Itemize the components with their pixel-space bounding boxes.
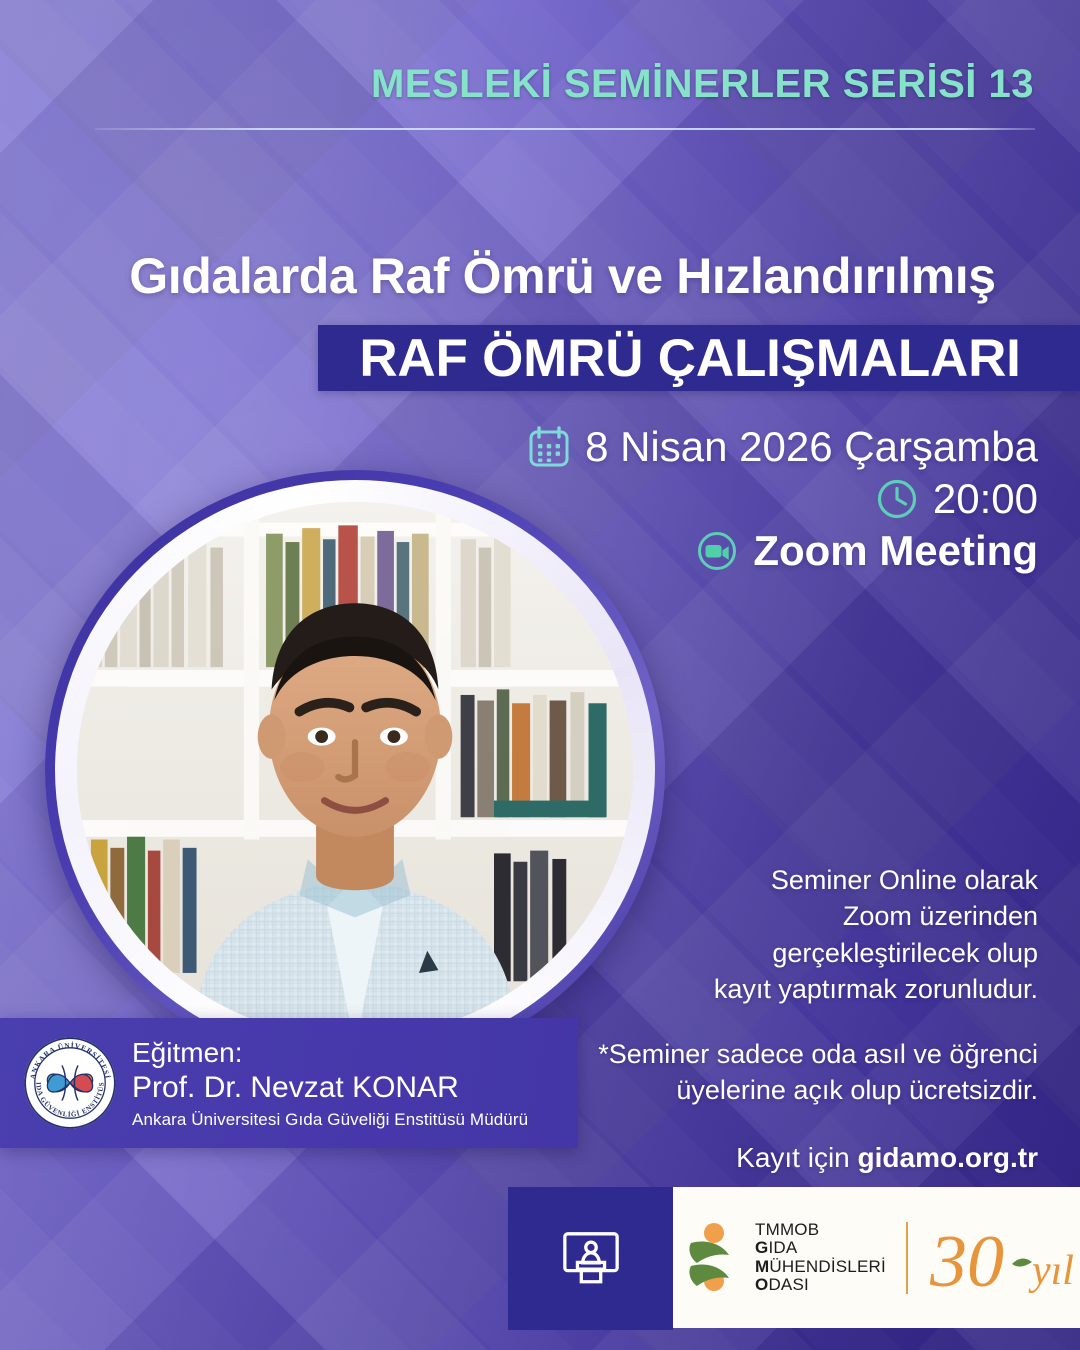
info-note-line1: Seminer Online olarak bbox=[568, 862, 1038, 898]
event-time-text: 20:00 bbox=[933, 476, 1038, 522]
speaker-details: Eğitmen: Prof. Dr. Nevzat KONAR Ankara Ü… bbox=[132, 1036, 528, 1130]
event-platform-text: Zoom Meeting bbox=[753, 528, 1038, 574]
event-date-text: 8 Nisan 2026 Çarşamba bbox=[585, 424, 1038, 470]
footer-icon-box bbox=[508, 1187, 673, 1330]
calendar-icon bbox=[527, 425, 571, 469]
tmmob-line-2: GIDA bbox=[755, 1239, 886, 1257]
header-divider bbox=[95, 128, 1035, 130]
speaker-name: Prof. Dr. Nevzat KONAR bbox=[132, 1070, 528, 1105]
event-date-row: 8 Nisan 2026 Çarşamba bbox=[527, 424, 1038, 470]
svg-text:yıl: yıl bbox=[1028, 1248, 1074, 1294]
speaker-role-label: Eğitmen: bbox=[132, 1036, 528, 1069]
footer-logo-box: TMMOB GIDA MÜHENDİSLERİ ODASI 30 yıl bbox=[673, 1187, 1080, 1328]
video-camera-icon bbox=[695, 529, 739, 573]
event-info-block: Seminer Online olarak Zoom üzerinden ger… bbox=[568, 862, 1038, 1176]
info-note-line3: gerçekleştirilecek olup bbox=[568, 935, 1038, 971]
speaker-banner: ANKARA ÜNİVERSİTESİ GIDA GÜVENLİĞİ ENSTİ… bbox=[0, 1018, 578, 1148]
event-time-row: 20:00 bbox=[875, 476, 1038, 522]
tmmob-gida-logo-icon bbox=[689, 1222, 745, 1294]
ankara-university-seal-icon: ANKARA ÜNİVERSİTESİ GIDA GÜVENLİĞİ ENSTİ… bbox=[22, 1035, 118, 1131]
page-title-line1: Gıdalarda Raf Ömrü ve Hızlandırılmış bbox=[80, 248, 1045, 304]
footer-divider bbox=[906, 1222, 908, 1294]
info-note-line4: kayıt yaptırmak zorunludur. bbox=[568, 971, 1038, 1007]
registration-prefix: Kayıt için bbox=[736, 1142, 857, 1173]
avatar bbox=[77, 502, 633, 1038]
info-spacer bbox=[568, 1008, 1038, 1036]
info-disclaimer-line2: üyelerine açık olup ücretsizdir. bbox=[568, 1072, 1038, 1108]
clock-icon bbox=[875, 477, 919, 521]
anniversary-30-yil-icon: 30 yıl bbox=[924, 1212, 1080, 1304]
series-kicker: MESLEKİ SEMİNERLER SERİSİ 13 bbox=[0, 62, 1034, 107]
tmmob-line-1: TMMOB bbox=[755, 1221, 886, 1239]
info-disclaimer-line1: *Seminer sadece oda asıl ve öğrenci bbox=[568, 1036, 1038, 1072]
svg-text:30: 30 bbox=[929, 1221, 1004, 1303]
tmmob-wordmark: TMMOB GIDA MÜHENDİSLERİ ODASI bbox=[755, 1221, 886, 1294]
page-title-line2: RAF ÖMRÜ ÇALIŞMALARI bbox=[318, 325, 1080, 391]
tmmob-line-3: MÜHENDİSLERİ bbox=[755, 1258, 886, 1276]
event-platform-row: Zoom Meeting bbox=[695, 528, 1038, 574]
speaker-affiliation: Ankara Üniversitesi Gıda Güveliği Enstit… bbox=[132, 1110, 528, 1130]
seminar-poster: MESLEKİ SEMİNERLER SERİSİ 13 Gıdalarda R… bbox=[0, 0, 1080, 1350]
tmmob-line-4: ODASI bbox=[755, 1276, 886, 1294]
registration-line: Kayıt için gidamo.org.tr bbox=[568, 1139, 1038, 1177]
podium-presenter-icon bbox=[560, 1228, 622, 1290]
info-note-line2: Zoom üzerinden bbox=[568, 898, 1038, 934]
portrait-ring bbox=[55, 480, 655, 1060]
registration-url[interactable]: gidamo.org.tr bbox=[858, 1142, 1038, 1173]
speaker-photo bbox=[77, 502, 633, 1038]
